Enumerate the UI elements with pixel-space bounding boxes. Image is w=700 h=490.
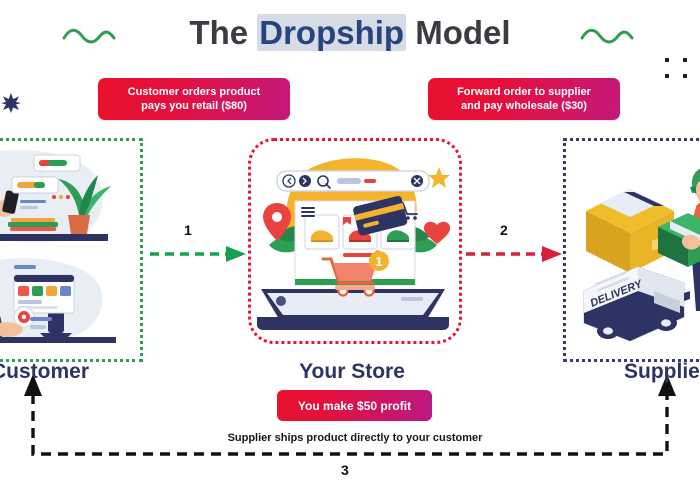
dropship-model-infographic: The Dropship Model Customer orders produ… — [0, 0, 700, 490]
star-burst-decoration-icon — [0, 92, 22, 114]
profit-badge: You make $50 profit — [277, 390, 432, 421]
flow-step-2-number: 2 — [500, 222, 508, 238]
flow-step-1-number: 1 — [184, 222, 192, 238]
node-label-customer: Customer — [0, 360, 89, 384]
store-panel: $ — [248, 138, 462, 344]
title-suffix: Model — [406, 14, 511, 51]
squiggle-decoration-icon — [62, 26, 116, 46]
node-label-store: Your Store — [248, 360, 456, 384]
node-label-supplier: Supplier — [624, 360, 700, 384]
supplier-panel: DELIVERY — [563, 138, 700, 362]
squiggle-decoration-icon — [580, 26, 634, 46]
customer-panel — [0, 138, 143, 362]
customer-shopping-illustration — [0, 141, 140, 359]
flow-arrow-3-return-path-icon — [0, 370, 700, 480]
shipping-caption: Supplier ships product directly to your … — [150, 432, 560, 444]
flow-arrow-1-icon — [150, 244, 250, 264]
flow-arrow-2-icon — [466, 244, 566, 264]
title-highlight-word: Dropship — [257, 14, 406, 51]
banner-forward-order: Forward order to supplier and pay wholes… — [428, 78, 620, 120]
dot-grid-decoration-icon — [665, 58, 693, 82]
title-prefix: The — [189, 14, 257, 51]
online-store-laptop-illustration: $ — [251, 141, 459, 341]
supplier-warehouse-delivery-illustration: DELIVERY — [566, 141, 700, 359]
banner-right-line1: Forward order to supplier — [457, 85, 591, 99]
banner-customer-order: Customer orders product pays you retail … — [98, 78, 290, 120]
banner-right-line2: and pay wholesale ($30) — [461, 99, 587, 113]
banner-left-line1: Customer orders product — [128, 85, 261, 99]
svg-text:1: 1 — [375, 254, 382, 269]
banner-left-line2: pays you retail ($80) — [141, 99, 247, 113]
